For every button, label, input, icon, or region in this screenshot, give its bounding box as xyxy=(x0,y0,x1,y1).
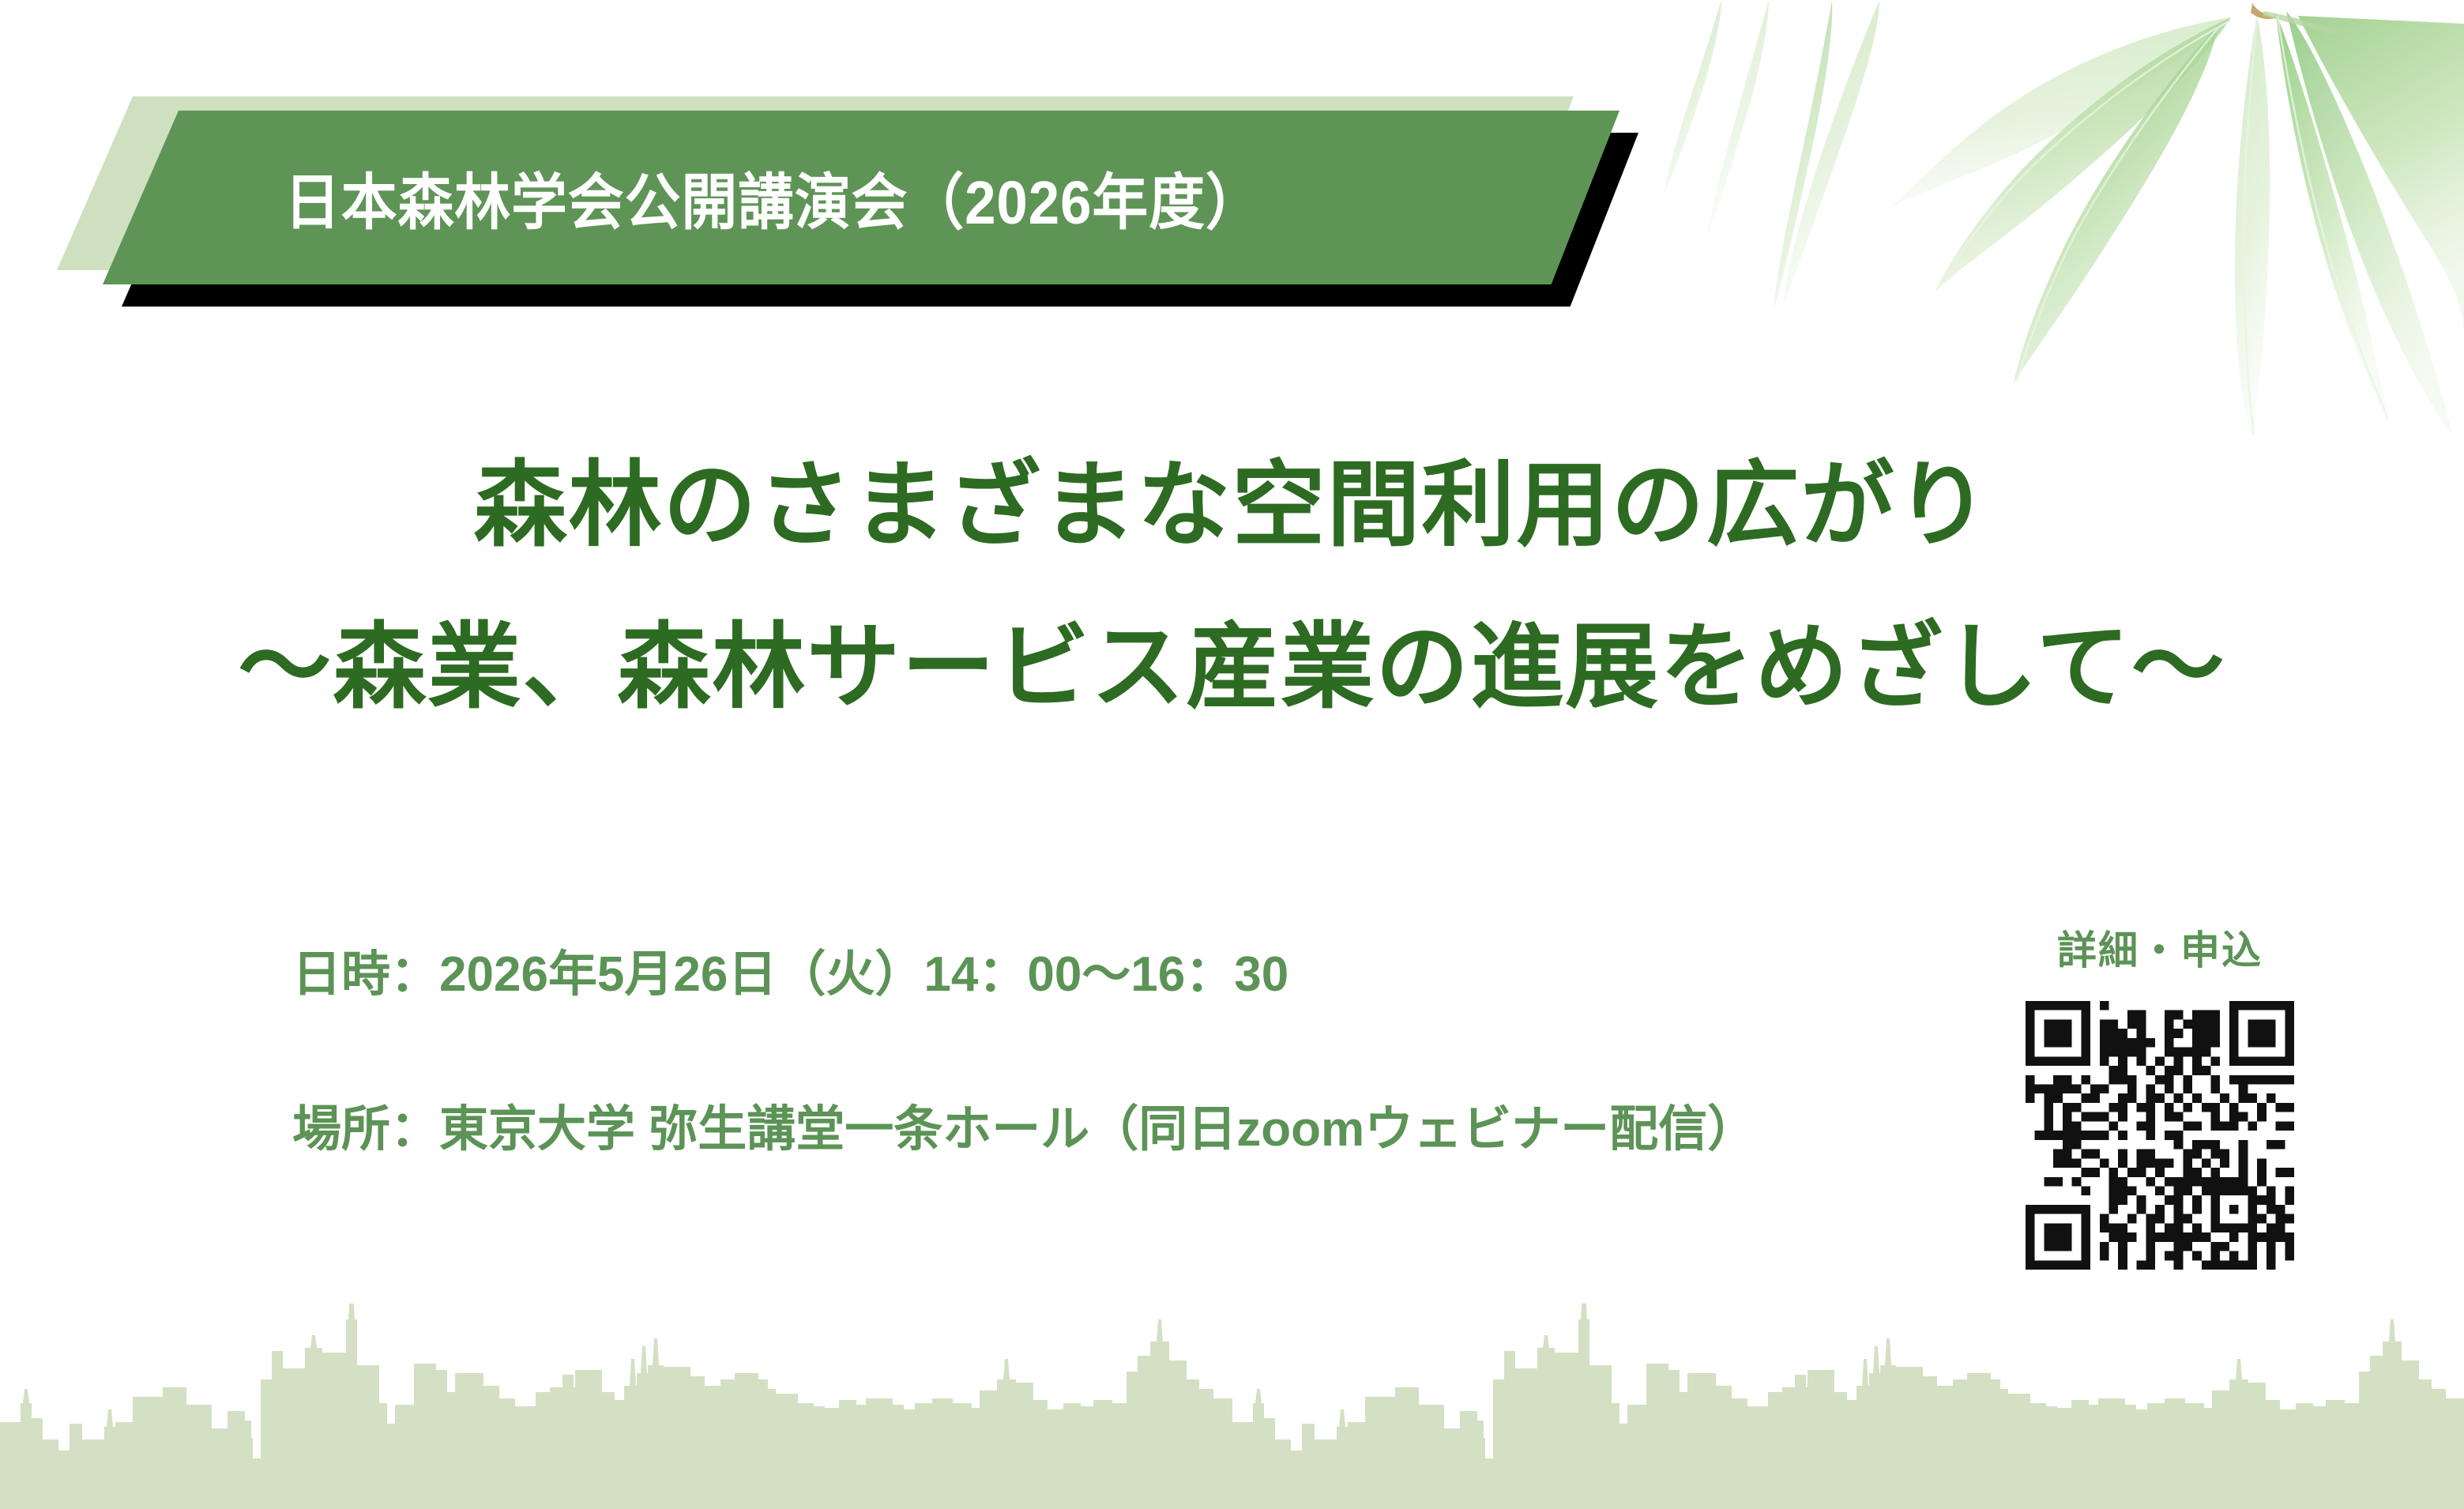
leaf-far-left-group xyxy=(1665,0,1879,310)
poster-canvas: 日本森林学会公開講演会（2026年度） 森林のさまざまな空間利用の広がり 〜森業… xyxy=(0,0,2464,1509)
title-line-1: 森林のさまざまな空間利用の広がり xyxy=(0,446,2464,565)
leaf-veins xyxy=(1936,16,2388,435)
event-venue: 場所：東京大学 弥生講堂一条ホール（同日zoomウェビナー配信） xyxy=(292,1099,1756,1161)
qr-code-icon[interactable] xyxy=(2026,1001,2294,1270)
poster-title: 森林のさまざまな空間利用の広がり 〜森業、森林サービス産業の進展をめざして〜 xyxy=(0,446,2464,727)
event-banner: 日本森林学会公開講演会（2026年度） xyxy=(103,111,1619,284)
leaf-center-group xyxy=(2235,13,2388,439)
event-datetime: 日時：2026年5月26日（火）14：00〜16：30 xyxy=(292,944,1756,1006)
leaf-left-group xyxy=(1886,17,2231,383)
leaf-stem xyxy=(2251,3,2369,44)
city-skyline-silhouette xyxy=(0,1304,2464,1509)
title-line-2: 〜森業、森林サービス産業の進展をめざして〜 xyxy=(0,608,2464,727)
registration-block[interactable]: 詳細・申込 xyxy=(2002,928,2318,1270)
qr-caption: 詳細・申込 xyxy=(2002,928,2318,973)
leaf-right-group xyxy=(2286,11,2464,436)
banner-label: 日本森林学会公開講演会（2026年度） xyxy=(284,111,1262,284)
event-details: 日時：2026年5月26日（火）14：00〜16：30 場所：東京大学 弥生講堂… xyxy=(292,944,1756,1161)
